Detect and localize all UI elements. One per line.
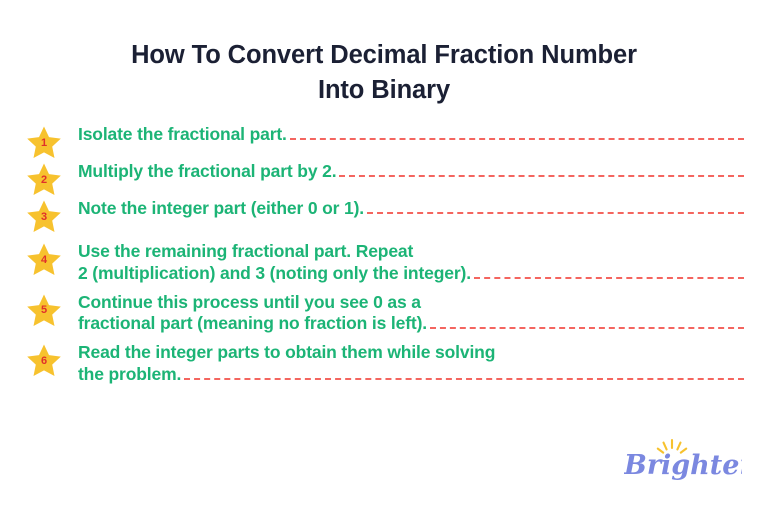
page-title-line-2: Into Binary	[72, 73, 696, 108]
star-icon: 4	[24, 242, 64, 276]
step-text-line: 2 (multiplication) and 3 (noting only th…	[78, 263, 471, 284]
dashed-leader	[184, 378, 744, 380]
list-item: 4 Use the remaining fractional part. Rep…	[24, 241, 744, 284]
star-icon: 1	[24, 125, 64, 159]
list-item: 3 Note the integer part (either 0 or 1).	[24, 198, 744, 233]
infographic-canvas: How To Convert Decimal Fraction Number I…	[0, 0, 768, 512]
page-title-line-1: How To Convert Decimal Fraction Number	[72, 38, 696, 73]
step-body: Read the integer parts to obtain them wh…	[78, 342, 744, 385]
step-number: 2	[24, 162, 64, 196]
steps-list: 1 Isolate the fractional part. 2 Multipl…	[24, 124, 744, 387]
step-body: Multiply the fractional part by 2.	[78, 161, 744, 182]
step-number: 5	[24, 293, 64, 327]
step-text-line: Read the integer parts to obtain them wh…	[78, 342, 495, 362]
step-number: 1	[24, 125, 64, 159]
list-item: 2 Multiply the fractional part by 2.	[24, 161, 744, 196]
dashed-leader	[290, 138, 744, 140]
step-text-line: the problem.	[78, 364, 181, 385]
list-item: 5 Continue this process until you see 0 …	[24, 292, 744, 335]
star-icon: 3	[24, 199, 64, 233]
star-icon: 2	[24, 162, 64, 196]
step-body: Note the integer part (either 0 or 1).	[78, 198, 744, 219]
dashed-leader	[367, 212, 744, 214]
logo-wordmark: Brighterly	[624, 450, 742, 481]
dashed-leader	[430, 327, 744, 329]
step-body: Continue this process until you see 0 as…	[78, 292, 744, 335]
step-number: 4	[24, 242, 64, 276]
star-icon: 5	[24, 293, 64, 327]
step-text-line: fractional part (meaning no fraction is …	[78, 313, 427, 334]
step-number: 6	[24, 343, 64, 377]
star-icon: 6	[24, 343, 64, 377]
step-text-line: Multiply the fractional part by 2.	[78, 161, 336, 182]
step-text-line: Isolate the fractional part.	[78, 124, 287, 145]
step-text-line: Continue this process until you see 0 as…	[78, 292, 421, 312]
step-body: Use the remaining fractional part. Repea…	[78, 241, 744, 284]
step-number: 3	[24, 199, 64, 233]
step-text-line: Note the integer part (either 0 or 1).	[78, 198, 364, 219]
brighterly-logo[interactable]: Brighterly	[624, 438, 742, 484]
list-item: 6 Read the integer parts to obtain them …	[24, 342, 744, 385]
dashed-leader	[339, 175, 744, 177]
step-text-line: Use the remaining fractional part. Repea…	[78, 241, 413, 261]
list-item: 1 Isolate the fractional part.	[24, 124, 744, 159]
page-title: How To Convert Decimal Fraction Number I…	[0, 38, 768, 107]
dashed-leader	[474, 277, 744, 279]
step-body: Isolate the fractional part.	[78, 124, 744, 145]
